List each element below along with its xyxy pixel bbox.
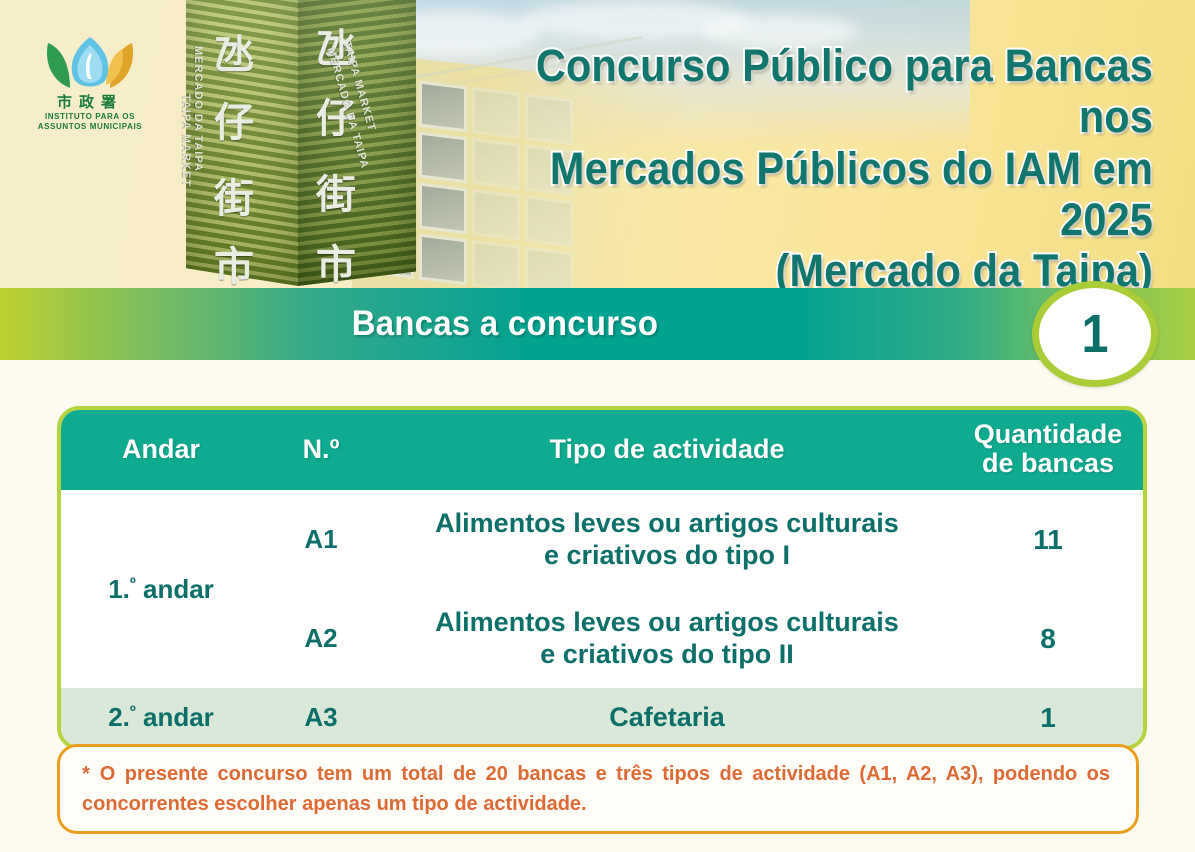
cell-quantity-a2: 8 (953, 589, 1143, 688)
cell-andar-1: 1.º andar (61, 490, 261, 688)
cell-andar-2: 2.º andar (61, 688, 261, 746)
cell-activity-a1: Alimentos leves ou artigos culturais e c… (381, 490, 953, 589)
column-header-numero: N.º (261, 410, 381, 490)
iam-logo: 市政署 INSTITUTO PARA OS ASSUNTOS MUNICIPAI… (30, 33, 150, 133)
cell-numero-a1: A1 (261, 490, 381, 589)
poster-title-line-1: Concurso Público para Bancas nos (472, 40, 1153, 143)
iam-logo-line-1: INSTITUTO PARA OS (30, 112, 150, 121)
stalls-table: Andar N.º Tipo de actividade Quantidade … (57, 406, 1147, 750)
taipa-market-tower-illustration: 氹 仔 街 市 氹 仔 街 市 MERCADO DA TAIPA TAIPA M… (186, 0, 418, 288)
cell-activity-a1-line-1: Alimentos leves ou artigos culturais (401, 508, 933, 540)
cell-numero-a2: A2 (261, 589, 381, 688)
footnote-marker: * (82, 763, 90, 785)
iam-logo-mark (30, 33, 150, 95)
column-header-andar: Andar (61, 410, 261, 490)
poster-title: Concurso Público para Bancas nos Mercado… (413, 40, 1153, 288)
cell-quantity-a1: 11 (953, 490, 1143, 589)
table-header-row: Andar N.º Tipo de actividade Quantidade … (61, 410, 1143, 490)
poster-title-line-3: (Mercado da Taipa) (472, 245, 1153, 288)
column-header-tipo-actividade: Tipo de actividade (381, 410, 953, 490)
footnote-paragraph: *O presente concurso tem um total de 20 … (82, 759, 1110, 819)
tower-label-mercado-da-taipa: MERCADO DA TAIPA (192, 46, 204, 172)
section-number-badge: 1 (1032, 281, 1158, 387)
cell-andar-2-value: 2.º andar (108, 702, 214, 732)
cell-activity-a1-line-2: e criativos do tipo I (401, 540, 933, 572)
table-row: 1.º andar A1 Alimentos leves ou artigos … (61, 490, 1143, 589)
hero-section: 氹 仔 街 市 氹 仔 街 市 MERCADO DA TAIPA TAIPA M… (0, 0, 1195, 288)
footnote-box: *O presente concurso tem um total de 20 … (57, 744, 1139, 834)
tower-char: 市 (214, 234, 254, 288)
cell-activity-a2: Alimentos leves ou artigos culturais e c… (381, 589, 953, 688)
cell-activity-a2-line-1: Alimentos leves ou artigos culturais (401, 607, 933, 639)
section-number-badge-value: 1 (1081, 307, 1108, 361)
cell-activity-a2-line-2: e criativos do tipo II (401, 639, 933, 671)
footnote-text: O presente concurso tem um total de 20 b… (82, 763, 1110, 815)
iam-logo-line-2: ASSUNTOS MUNICIPAIS (30, 122, 150, 131)
table-body: 1.º andar A1 Alimentos leves ou artigos … (61, 490, 1143, 746)
tower-char: 氹 (214, 22, 254, 80)
tower-char: 街 (214, 166, 254, 224)
column-header-quantidade-line-2: de bancas (953, 449, 1143, 478)
cell-numero-a3: A3 (261, 688, 381, 746)
poster-root: 氹 仔 街 市 氹 仔 街 市 MERCADO DA TAIPA TAIPA M… (0, 0, 1195, 852)
cell-activity-a3: Cafetaria (381, 688, 953, 746)
tower-label-taipa-market: TAIPA MARKET (180, 94, 192, 187)
iam-logo-chinese: 市政署 (38, 91, 142, 112)
stalls-table-element: Andar N.º Tipo de actividade Quantidade … (61, 410, 1143, 746)
column-header-quantidade-bancas: Quantidade de bancas (953, 410, 1143, 490)
cell-andar-1-value: 1.º andar (108, 574, 214, 604)
column-header-quantidade-line-1: Quantidade (953, 420, 1143, 449)
section-banner-title: Bancas a concurso (30, 288, 979, 360)
tower-char: 市 (316, 232, 356, 288)
tower-char: 街 (316, 162, 356, 220)
cell-quantity-a3: 1 (953, 688, 1143, 746)
poster-title-line-2: Mercados Públicos do IAM em 2025 (472, 143, 1153, 246)
green-leaf-icon (47, 43, 70, 88)
tower-char: 仔 (214, 90, 254, 148)
table-header: Andar N.º Tipo de actividade Quantidade … (61, 410, 1143, 490)
table-row: 2.º andar A3 Cafetaria 1 (61, 688, 1143, 746)
